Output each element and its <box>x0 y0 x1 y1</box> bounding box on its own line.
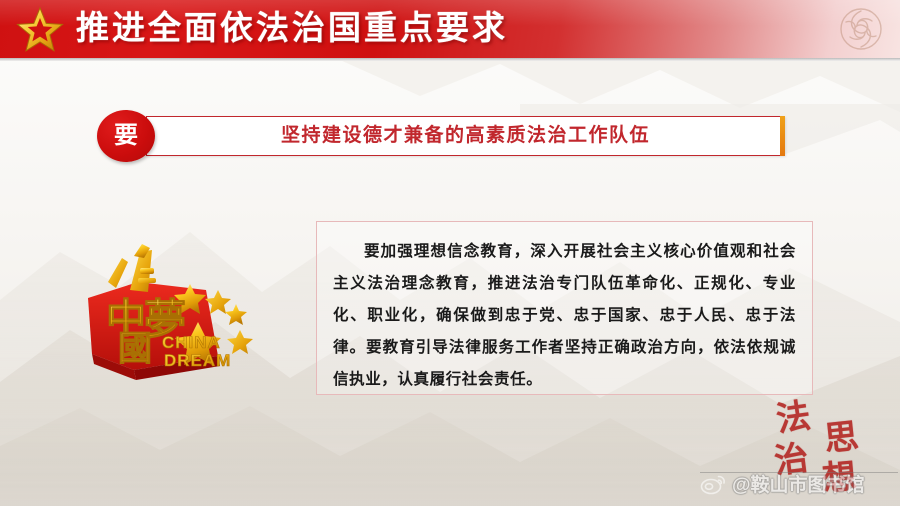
svg-text:DREAM: DREAM <box>164 351 231 370</box>
weibo-logo-icon <box>700 471 726 497</box>
weibo-watermark: @鞍山市图书馆 <box>700 470 865 497</box>
svg-text:CHINA: CHINA <box>162 333 221 352</box>
china-dream-emblem: 中 國 夢 CHINA DREAM <box>78 238 278 388</box>
header-divider <box>0 58 900 61</box>
section-heading-row: 坚持建设德才兼备的高素质法治工作队伍 要 <box>97 110 787 162</box>
dragon-medallion-ornament-icon <box>836 4 886 54</box>
heading-bar-accent-stripe <box>780 116 785 156</box>
section-heading-text: 坚持建设德才兼备的高素质法治工作队伍 <box>147 117 784 157</box>
header-banner: 推进全面依法治国重点要求 <box>0 0 900 58</box>
five-pointed-star-icon <box>16 6 64 54</box>
section-badge-label: 要 <box>97 110 155 162</box>
page-title: 推进全面依法治国重点要求 <box>76 4 508 54</box>
body-text-panel: 要加强理想信念教育，深入开展社会主义核心价值观和社会主义法治理念教育，推进法治专… <box>316 221 813 395</box>
body-paragraph: 要加强理想信念教育，深入开展社会主义核心价值观和社会主义法治理念教育，推进法治专… <box>333 236 796 396</box>
watermark-handle: @鞍山市图书馆 <box>732 470 865 497</box>
section-heading-bar: 坚持建设德才兼备的高素质法治工作队伍 <box>146 116 785 156</box>
section-badge: 要 <box>97 110 155 162</box>
slide-root: 推进全面依法治国重点要求 坚持建设德才兼备的高素质法治工作队伍 要 <box>0 0 900 506</box>
